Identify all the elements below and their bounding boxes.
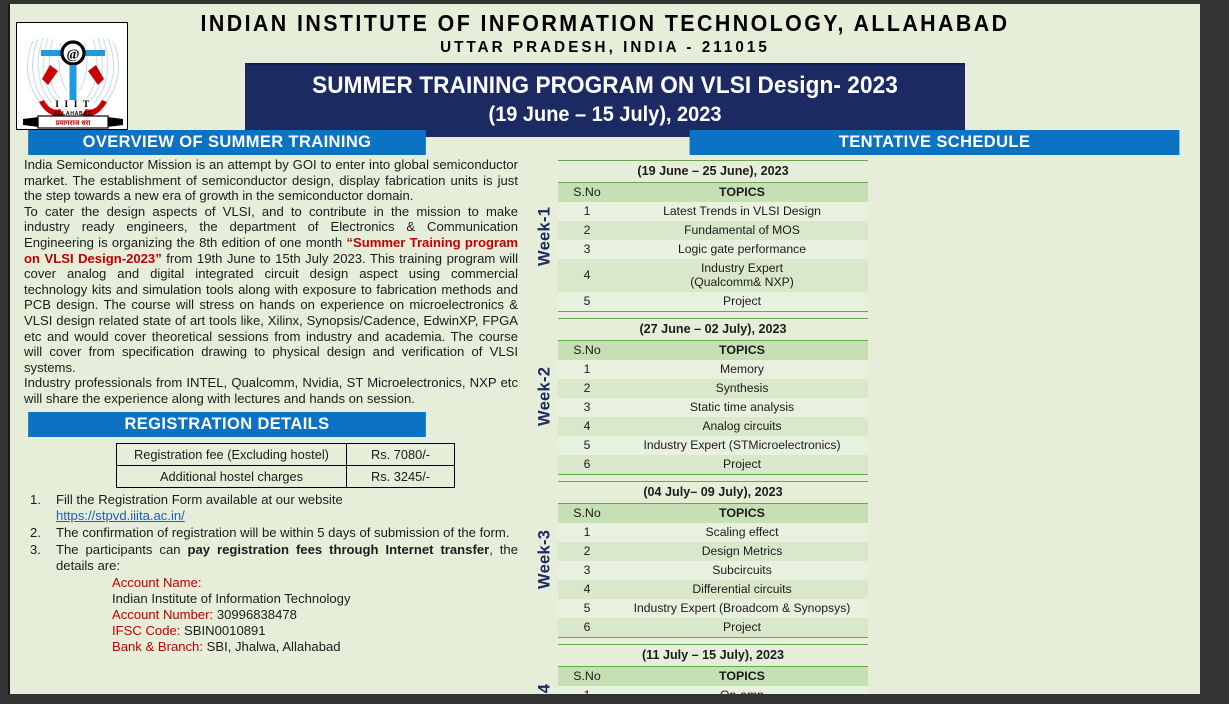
week-table-3: S.No TOPICS 1Scaling effect 2Design Metr… bbox=[558, 503, 868, 638]
bank-account-number-row: Account Number: 30996838478 bbox=[112, 607, 524, 623]
table-row: 1Latest Trends in VLSI Design bbox=[558, 202, 868, 221]
overview-para-1: India Semiconductor Mission is an attemp… bbox=[24, 157, 518, 204]
table-row: 2Design Metrics bbox=[558, 542, 868, 561]
row-sno: 4 bbox=[558, 259, 616, 292]
table-header-row: S.No TOPICS bbox=[558, 341, 868, 361]
fee-label-1: Additional hostel charges bbox=[117, 465, 347, 487]
registration-heading: REGISTRATION DETAILS bbox=[28, 412, 426, 437]
week-block-3: Week-3 (04 July– 09 July), 2023 S.No TOP… bbox=[532, 481, 868, 644]
table-header-row: S.No TOPICS bbox=[558, 504, 868, 524]
row-topic: Industry Expert (Qualcomm& NXP) bbox=[616, 259, 868, 292]
row-sno: 4 bbox=[558, 580, 616, 599]
row-sno: 1 bbox=[558, 523, 616, 542]
poster-page: @ I I I T ALLAHABAD प्रयागराज धरा bbox=[8, 4, 1200, 694]
fee-label-0: Registration fee (Excluding hostel) bbox=[117, 443, 347, 465]
col-topics: TOPICS bbox=[616, 667, 868, 687]
row-topic: Subcircuits bbox=[616, 561, 868, 580]
row-topic: Scaling effect bbox=[616, 523, 868, 542]
iiit-allahabad-logo: @ I I I T ALLAHABAD प्रयागराज धरा bbox=[16, 22, 128, 130]
table-row: 3Subcircuits bbox=[558, 561, 868, 580]
bank-details: Account Name: Indian Institute of Inform… bbox=[16, 575, 524, 655]
row-sno: 2 bbox=[558, 379, 616, 398]
poster-content: @ I I I T ALLAHABAD प्रयागराज धरा bbox=[10, 4, 1200, 694]
week-label-1: Week-1 bbox=[532, 160, 558, 312]
row-sno: 3 bbox=[558, 398, 616, 417]
overview-para-2b: from 19th June to 15th July 2023. This t… bbox=[24, 251, 518, 375]
row-sno: 2 bbox=[558, 542, 616, 561]
table-header-row: S.No TOPICS bbox=[558, 667, 868, 687]
institute-name: INDIAN INSTITUTE OF INFORMATION TECHNOLO… bbox=[52, 10, 1159, 36]
row-sno: 5 bbox=[558, 436, 616, 455]
table-row: 1Scaling effect bbox=[558, 523, 868, 542]
table-row: 5Industry Expert (Broadcom & Synopsys) bbox=[558, 599, 868, 618]
bank-account-name-row: Account Name: bbox=[112, 575, 524, 591]
row-topic: Differential circuits bbox=[616, 580, 868, 599]
program-title: SUMMER TRAINING PROGRAM ON VLSI Design- … bbox=[270, 72, 939, 100]
row-sno: 6 bbox=[558, 455, 616, 475]
col-sno: S.No bbox=[558, 667, 616, 687]
col-sno: S.No bbox=[558, 341, 616, 361]
table-row: 6Project bbox=[558, 455, 868, 475]
row-sno: 5 bbox=[558, 292, 616, 312]
schedule-grid: Week-1 (19 June – 25 June), 2023 S.No TO… bbox=[532, 155, 1196, 694]
table-row: 4Industry Expert (Qualcomm& NXP) bbox=[558, 259, 868, 292]
bank-account-number-value: 30996838478 bbox=[217, 607, 297, 622]
logo-banner-text: प्रयागराज धरा bbox=[55, 120, 92, 127]
week-block-2: Week-2 (27 June – 02 July), 2023 S.No TO… bbox=[532, 318, 868, 481]
poster-header: @ I I I T ALLAHABAD प्रयागराज धरा bbox=[10, 4, 1200, 130]
week-table-4: S.No TOPICS 1Op-amp 2Transceiver Design … bbox=[558, 666, 868, 694]
table-row: 1Op-amp bbox=[558, 686, 868, 694]
right-column: TENTATIVE SCHEDULE Week-1 (19 June – 25 … bbox=[524, 130, 1196, 694]
bank-account-name-key: Account Name: bbox=[112, 575, 202, 590]
bank-branch-value: SBI, Jhalwa, Allahabad bbox=[207, 639, 341, 654]
row-topic: Industry Expert (STMicroelectronics) bbox=[616, 436, 868, 455]
week-table-1: S.No TOPICS 1Latest Trends in VLSI Desig… bbox=[558, 182, 868, 312]
title-block: INDIAN INSTITUTE OF INFORMATION TECHNOLO… bbox=[10, 4, 1200, 137]
col-sno: S.No bbox=[558, 504, 616, 524]
row-sno: 5 bbox=[558, 599, 616, 618]
week-block-1: Week-1 (19 June – 25 June), 2023 S.No TO… bbox=[532, 160, 868, 318]
week-dates-3: (04 July– 09 July), 2023 bbox=[558, 481, 868, 503]
table-row: 4Differential circuits bbox=[558, 580, 868, 599]
program-dates: (19 June – 15 July), 2023 bbox=[267, 102, 943, 128]
left-column: OVERVIEW OF SUMMER TRAINING India Semico… bbox=[16, 130, 524, 655]
week-label-4: Week-4 bbox=[532, 644, 558, 694]
bank-ifsc-value: SBIN0010891 bbox=[184, 623, 266, 638]
row-topic: Fundamental of MOS bbox=[616, 221, 868, 240]
row-sno: 3 bbox=[558, 561, 616, 580]
row-sno: 4 bbox=[558, 417, 616, 436]
row-sno: 6 bbox=[558, 618, 616, 638]
table-row: 2Fundamental of MOS bbox=[558, 221, 868, 240]
reg-step-3-a: The participants can bbox=[56, 542, 187, 557]
row-topic: Design Metrics bbox=[616, 542, 868, 561]
row-sno: 1 bbox=[558, 360, 616, 379]
week-table-2: S.No TOPICS 1Memory 2Synthesis 3Static t… bbox=[558, 340, 868, 475]
registration-link[interactable]: https://stpvd.iiita.ac.in/ bbox=[56, 508, 185, 523]
bank-account-number-key: Account Number: bbox=[112, 607, 213, 622]
bank-ifsc-key: IFSC Code: bbox=[112, 623, 180, 638]
list-item: The participants can pay registration fe… bbox=[30, 542, 518, 574]
table-header-row: S.No TOPICS bbox=[558, 183, 868, 203]
poster-body: OVERVIEW OF SUMMER TRAINING India Semico… bbox=[10, 130, 1200, 694]
overview-para-3: Industry professionals from INTEL, Qualc… bbox=[24, 375, 518, 406]
institute-location: UTTAR PRADESH, INDIA - 211015 bbox=[40, 39, 1171, 57]
week-block-4: Week-4 (11 July – 15 July), 2023 S.No TO… bbox=[532, 644, 868, 694]
fee-table: Registration fee (Excluding hostel) Rs. … bbox=[116, 443, 455, 488]
table-row: 3Static time analysis bbox=[558, 398, 868, 417]
row-topic: Synthesis bbox=[616, 379, 868, 398]
row-sno: 2 bbox=[558, 221, 616, 240]
row-sno: 3 bbox=[558, 240, 616, 259]
row-topic: Logic gate performance bbox=[616, 240, 868, 259]
table-row: 5Project bbox=[558, 292, 868, 312]
week-dates-4: (11 July – 15 July), 2023 bbox=[558, 644, 868, 666]
table-row: 5Industry Expert (STMicroelectronics) bbox=[558, 436, 868, 455]
row-sno: 1 bbox=[558, 686, 616, 694]
table-row: Registration fee (Excluding hostel) Rs. … bbox=[117, 443, 455, 465]
row-topic: Project bbox=[616, 455, 868, 475]
logo-iiit-text: I I I T bbox=[55, 100, 91, 110]
table-row: 3Logic gate performance bbox=[558, 240, 868, 259]
row-topic: Project bbox=[616, 292, 868, 312]
reg-step-1-text: Fill the Registration Form available at … bbox=[56, 492, 343, 507]
table-row: 1Memory bbox=[558, 360, 868, 379]
bank-branch-row: Bank & Branch: SBI, Jhalwa, Allahabad bbox=[112, 639, 524, 655]
col-sno: S.No bbox=[558, 183, 616, 203]
overview-heading: OVERVIEW OF SUMMER TRAINING bbox=[28, 130, 426, 155]
row-topic: Project bbox=[616, 618, 868, 638]
table-row: 4Analog circuits bbox=[558, 417, 868, 436]
week-dates-1: (19 June – 25 June), 2023 bbox=[558, 160, 868, 182]
registration-steps: Fill the Registration Form available at … bbox=[16, 492, 524, 574]
row-topic: Latest Trends in VLSI Design bbox=[616, 202, 868, 221]
bank-ifsc-row: IFSC Code: SBIN0010891 bbox=[112, 623, 524, 639]
row-topic: Analog circuits bbox=[616, 417, 868, 436]
bank-branch-key: Bank & Branch: bbox=[112, 639, 203, 654]
table-row: Additional hostel charges Rs. 3245/- bbox=[117, 465, 455, 487]
screen-viewport: @ I I I T ALLAHABAD प्रयागराज धरा bbox=[0, 0, 1229, 704]
reg-step-3-bold: pay registration fees through Internet t… bbox=[187, 542, 489, 557]
table-row: 2Synthesis bbox=[558, 379, 868, 398]
row-sno: 1 bbox=[558, 202, 616, 221]
bank-account-name-value: Indian Institute of Information Technolo… bbox=[112, 591, 524, 607]
col-topics: TOPICS bbox=[616, 183, 868, 203]
row-topic: Memory bbox=[616, 360, 868, 379]
overview-para-2: To cater the design aspects of VLSI, and… bbox=[24, 204, 518, 376]
week-label-2: Week-2 bbox=[532, 318, 558, 475]
table-row: 6Project bbox=[558, 618, 868, 638]
list-item: Fill the Registration Form available at … bbox=[30, 492, 518, 524]
list-item: The confirmation of registration will be… bbox=[30, 525, 518, 541]
fee-value-1: Rs. 3245/- bbox=[347, 465, 455, 487]
program-banner: SUMMER TRAINING PROGRAM ON VLSI Design- … bbox=[245, 63, 965, 137]
overview-text: India Semiconductor Mission is an attemp… bbox=[16, 155, 524, 407]
schedule-heading: TENTATIVE SCHEDULE bbox=[690, 130, 1180, 155]
row-topic: Op-amp bbox=[616, 686, 868, 694]
col-topics: TOPICS bbox=[616, 341, 868, 361]
row-topic: Static time analysis bbox=[616, 398, 868, 417]
fee-value-0: Rs. 7080/- bbox=[347, 443, 455, 465]
week-dates-2: (27 June – 02 July), 2023 bbox=[558, 318, 868, 340]
col-topics: TOPICS bbox=[616, 504, 868, 524]
row-topic: Industry Expert (Broadcom & Synopsys) bbox=[616, 599, 868, 618]
week-label-3: Week-3 bbox=[532, 481, 558, 638]
